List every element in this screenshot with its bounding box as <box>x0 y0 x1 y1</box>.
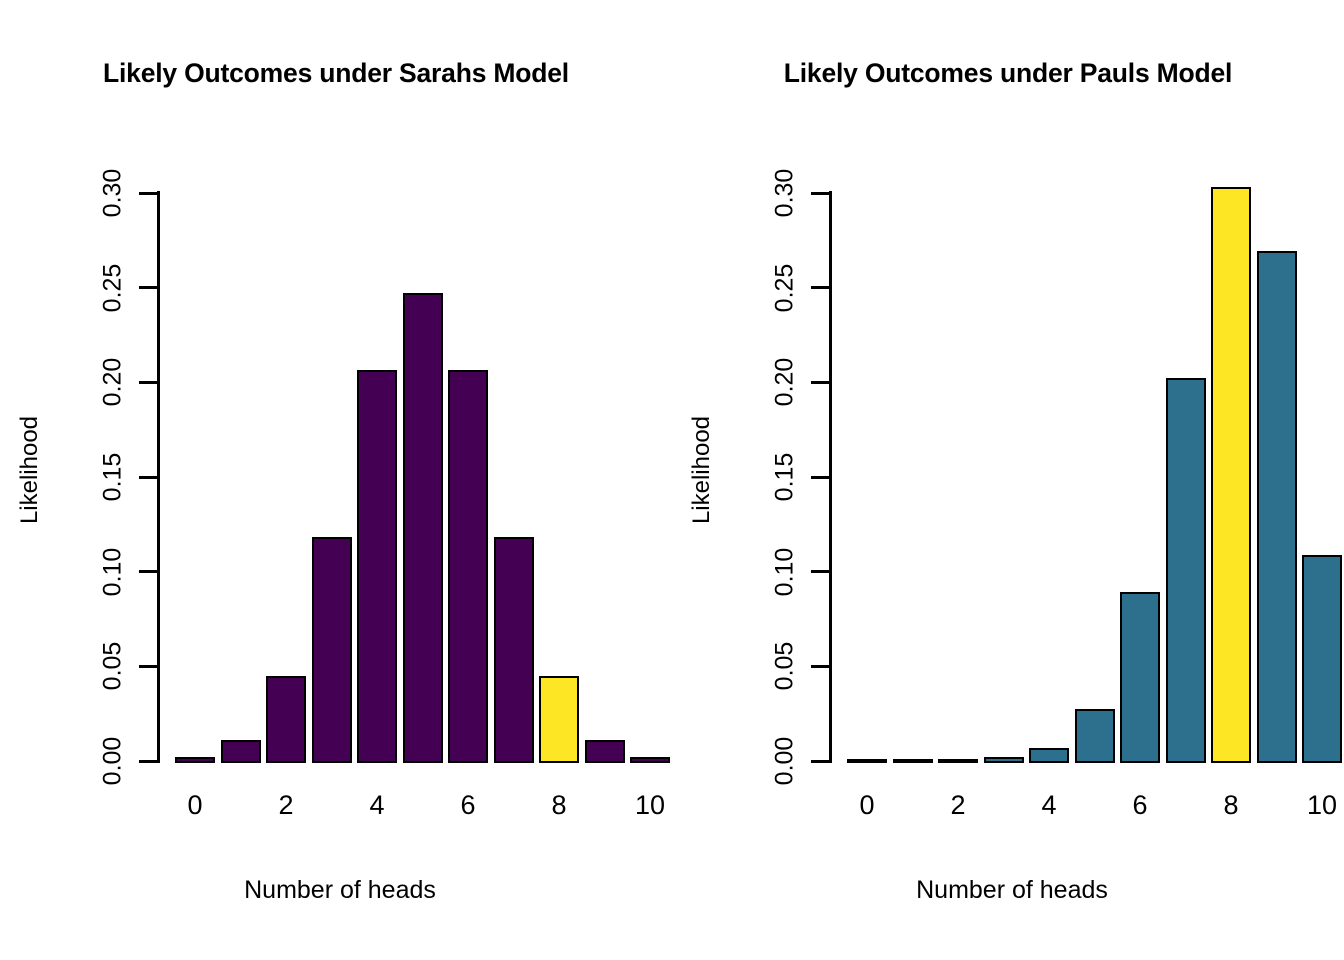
plot-area-sarah: 0.000.050.100.150.200.250.30 0246810 Lik… <box>0 0 672 960</box>
x-tick-label: 4 <box>369 790 384 821</box>
bar-3 <box>984 757 1024 763</box>
x-tick-label: 10 <box>635 790 665 821</box>
y-tick-mark <box>811 476 829 479</box>
bar-4 <box>357 370 397 763</box>
panel-paul: Likely Outcomes under Pauls Model 0.000.… <box>672 0 1344 960</box>
bar-0 <box>847 759 887 763</box>
x-tick-label: 10 <box>1307 790 1337 821</box>
y-tick-mark <box>811 665 829 668</box>
x-tick-label: 2 <box>278 790 293 821</box>
y-tick-mark <box>139 286 157 289</box>
y-tick-label-text: 0.05 <box>99 642 128 691</box>
x-tick-label: 8 <box>551 790 566 821</box>
bar-2 <box>266 676 306 764</box>
bar-1 <box>221 740 261 763</box>
y-tick-label-text: 0.10 <box>771 547 800 596</box>
y-tick-mark <box>139 760 157 763</box>
figure-canvas: Likely Outcomes under Sarahs Model 0.000… <box>0 0 1344 960</box>
y-tick-label-text: 0.10 <box>99 547 128 596</box>
panel-sarah: Likely Outcomes under Sarahs Model 0.000… <box>0 0 672 960</box>
y-tick-label-text: 0.15 <box>771 453 800 502</box>
bar-9 <box>1257 251 1297 764</box>
plot-area-paul: 0.000.050.100.150.200.250.30 0246810 Lik… <box>672 0 1344 960</box>
bar-7 <box>494 537 534 763</box>
x-tick-label: 6 <box>1132 790 1147 821</box>
y-tick-label-text: 0.05 <box>771 642 800 691</box>
x-tick-label: 6 <box>460 790 475 821</box>
x-tick-label: 2 <box>950 790 965 821</box>
y-axis-label-text-paul: Likelihood <box>688 416 716 524</box>
bar-2 <box>938 759 978 764</box>
bar-8 <box>539 676 579 764</box>
y-tick-label-text: 0.25 <box>99 263 128 312</box>
bar-10 <box>1302 555 1342 763</box>
x-tick-label: 8 <box>1223 790 1238 821</box>
x-axis-label-sarah: Number of heads <box>80 876 600 905</box>
y-tick-mark <box>811 570 829 573</box>
bar-8 <box>1211 187 1251 763</box>
y-tick-mark <box>811 192 829 195</box>
y-tick-label-text: 0.00 <box>771 737 800 786</box>
y-tick-mark <box>139 570 157 573</box>
bar-3 <box>312 537 352 763</box>
x-tick-label: 0 <box>187 790 202 821</box>
y-tick-label-text: 0.15 <box>99 453 128 502</box>
x-axis-label-paul: Number of heads <box>752 876 1272 905</box>
y-tick-mark <box>139 476 157 479</box>
bar-4 <box>1029 748 1069 763</box>
y-tick-label-text: 0.30 <box>99 169 128 218</box>
bar-7 <box>1166 378 1206 764</box>
x-tick-label: 0 <box>859 790 874 821</box>
bar-1 <box>893 759 933 763</box>
y-axis-line-paul <box>829 191 832 763</box>
x-tick-label: 4 <box>1041 790 1056 821</box>
bar-0 <box>175 757 215 763</box>
y-tick-label-text: 0.00 <box>99 737 128 786</box>
y-tick-label-text: 0.30 <box>771 169 800 218</box>
y-tick-mark <box>139 381 157 384</box>
y-tick-mark <box>139 192 157 195</box>
y-tick-label-text: 0.25 <box>771 263 800 312</box>
bar-5 <box>403 293 443 763</box>
y-axis-label-text-sarah: Likelihood <box>16 416 44 524</box>
bar-5 <box>1075 709 1115 763</box>
bar-6 <box>1120 592 1160 763</box>
y-tick-label-text: 0.20 <box>771 358 800 407</box>
bar-6 <box>448 370 488 763</box>
bar-9 <box>585 740 625 763</box>
y-tick-mark <box>811 286 829 289</box>
y-tick-label-text: 0.20 <box>99 358 128 407</box>
y-tick-mark <box>811 760 829 763</box>
y-tick-mark <box>139 665 157 668</box>
y-axis-line-sarah <box>157 191 160 763</box>
bar-10 <box>630 757 670 763</box>
y-tick-mark <box>811 381 829 384</box>
